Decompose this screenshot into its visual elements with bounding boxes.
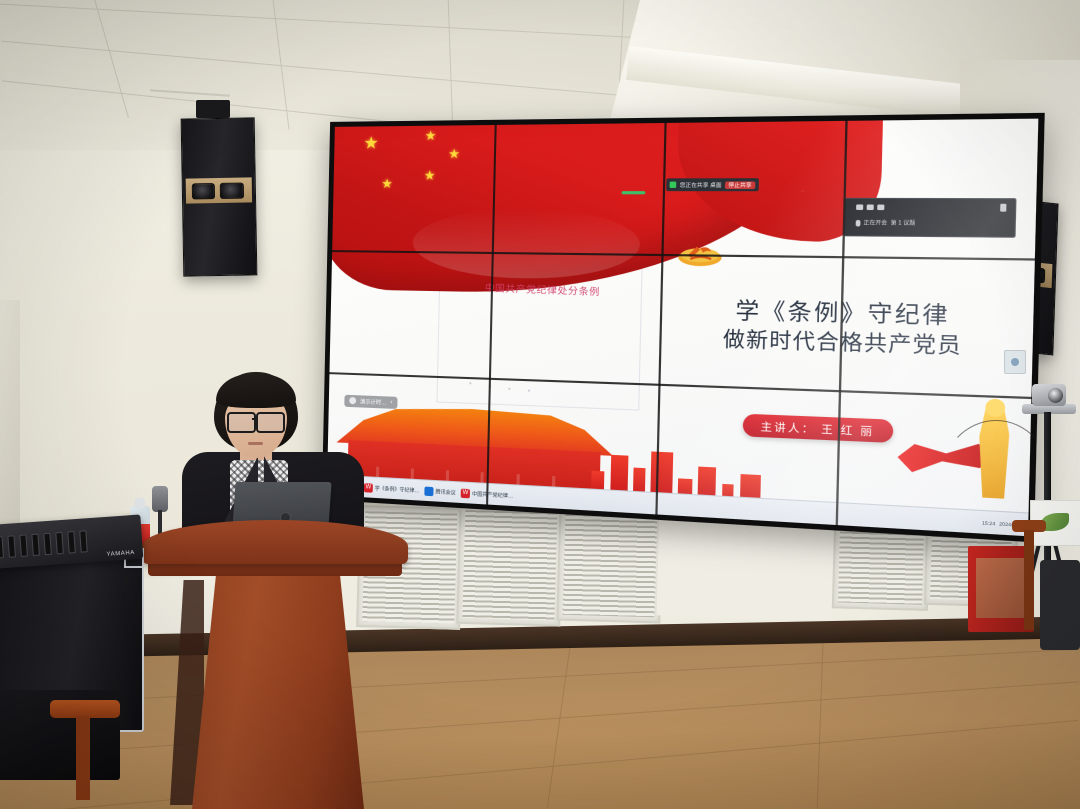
left-wall-rack — [0, 300, 20, 530]
speaker-bracket-left — [196, 100, 230, 118]
green-indicator-tab — [621, 191, 645, 194]
meeting-control-panel[interactable]: 正在开会 第 1 议题 — [844, 198, 1017, 238]
dark-chair-right — [1040, 560, 1080, 650]
bottle-cap — [135, 498, 145, 508]
taskbar-item-wps[interactable]: W 学《条例》守纪律… — [364, 483, 420, 495]
wall-speaker-left — [181, 117, 258, 276]
bird-icon: ⌃ — [799, 190, 806, 198]
lectern-column — [192, 574, 364, 809]
menu-icon[interactable] — [1000, 204, 1006, 212]
taskbar-label: 学《条例》守纪律… — [375, 484, 420, 494]
wall-outlet-plate — [1004, 350, 1026, 374]
window-icon[interactable] — [866, 204, 873, 210]
signal-bars-icon — [670, 182, 677, 188]
chevron-left-icon[interactable]: ‹ — [390, 399, 392, 405]
radiator-grille — [556, 503, 663, 624]
lectern-top — [142, 520, 408, 564]
mixer-brand-label: YAMAHA — [106, 550, 135, 558]
radiator-grille — [456, 504, 563, 627]
taskbar-label: 中国共产党纪律… — [472, 490, 513, 500]
mic-icon[interactable] — [855, 220, 860, 227]
minimize-icon[interactable] — [856, 204, 863, 210]
photo-scene: ★ ★ ★ ★ ★ ⌃ ⌃ ⌃ ⌃ — [0, 0, 1080, 809]
microphone-head — [152, 486, 168, 512]
wooden-lectern — [140, 520, 410, 809]
meeting-app-icon[interactable] — [424, 486, 433, 496]
meeting-topic-text: 第 1 议题 — [891, 219, 916, 227]
slide-main-title: 学《条例》守纪律 做新时代合格共产党员 — [673, 296, 1018, 363]
eyeglasses-bridge — [252, 418, 258, 420]
speaker-label: 主讲人： — [761, 422, 816, 436]
eyeglasses-lens-right — [256, 412, 285, 433]
camera-lens — [1048, 388, 1063, 403]
eyeglasses-lens-left — [227, 412, 256, 433]
speaker-name: 王 红 丽 — [821, 425, 875, 439]
grid-icon[interactable] — [877, 204, 884, 210]
led-video-wall[interactable]: ★ ★ ★ ★ ★ ⌃ ⌃ ⌃ ⌃ — [322, 113, 1045, 542]
taskbar-label: 腾讯会议 — [435, 488, 455, 496]
stop-share-button[interactable]: 停止共享 — [725, 181, 755, 189]
taskbar-item-meeting[interactable]: 腾讯会议 — [424, 486, 455, 497]
share-status-text: 您正在共享 桌面 — [680, 181, 722, 189]
mouth — [248, 442, 263, 445]
orange-stool-left — [50, 700, 120, 800]
meeting-status-text: 正在开会 — [863, 219, 887, 227]
wps-ppt-icon[interactable]: W — [461, 488, 470, 498]
hair-fringe — [216, 374, 296, 408]
screen-surface[interactable]: ★ ★ ★ ★ ★ ⌃ ⌃ ⌃ ⌃ — [327, 119, 1039, 537]
screen-share-bar[interactable]: 您正在共享 桌面 停止共享 — [666, 178, 758, 191]
